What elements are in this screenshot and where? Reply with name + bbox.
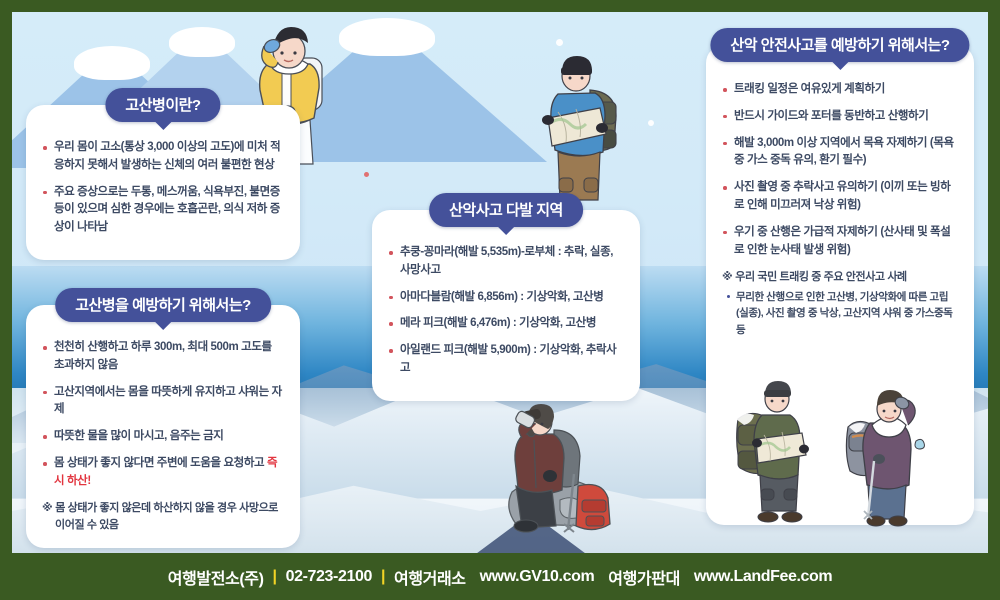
card-altitude-sickness-title: 고산병이란? [105,88,220,122]
altitude-sickness-list: 우리 몸이 고소(통상 3,000 이상의 고도)에 미처 적응하지 못해서 발… [42,139,282,237]
card-prevention: 고산병을 예방하기 위해서는? 천천히 산행하고 하루 300m, 최대 500… [26,305,300,548]
infographic-poster: 고산병이란? 우리 몸이 고소(통상 3,000 이상의 고도)에 미처 적응하… [0,0,1000,600]
list-item-with-alert: 몸 상태가 좋지 않다면 주변에 도움을 요청하고 즉시 하산! [42,455,282,491]
hotspots-list: 추쿵-꽁마라(해발 5,535m)-로부체 : 추락, 실종, 사망사고 아마다… [388,244,622,378]
card-accident-hotspots-title: 산악사고 다발 지역 [429,193,583,227]
prevention-list: 천천히 산행하고 하루 300m, 최대 500m 고도를 초과하지 않음 고산… [42,339,282,491]
list-item: 주요 증상으로는 두통, 메스꺼움, 식욕부진, 불면증 등이 있으며 심한 경… [42,184,282,237]
footer-brand-1: 여행거래소 [394,565,466,589]
list-item: 메라 피크(해발 6,476m) : 기상악화, 고산병 [388,315,622,333]
list-item: 고산지역에서는 몸을 따뜻하게 유지하고 샤워는 자제 [42,384,282,420]
list-item: 반드시 가이드와 포터를 동반하고 산행하기 [722,108,958,126]
snow-dot-icon [364,172,369,177]
safety-note-detail: 무리한 산행으로 인한 고산병, 기상악화에 따른 고립(실종), 사진 촬영 … [722,289,958,339]
footer-phone: 02-723-2100 [286,568,372,586]
hiker-purple-jacket-headache-illustration [838,381,948,527]
snow-dot-icon [648,120,654,126]
list-item: 아마다블람(해발 6,856m) : 기상악화, 고산병 [388,289,622,307]
footer-separator-1: | [273,568,277,586]
note-line-2: 이어질 수 있음 [42,517,282,534]
list-item: 아일랜드 피크(해발 5,900m) : 기상악화, 추락사고 [388,342,622,378]
footer-url-1[interactable]: www.GV10.com [480,568,595,586]
prevention-note: ※몸 상태가 좋지 않은데 하산하지 않을 경우 사망으로 이어질 수 있음 [42,500,282,534]
snow-dot-icon [556,39,563,46]
list-item: 트래킹 일정은 여유있게 계획하기 [722,81,958,99]
card-altitude-sickness: 고산병이란? 우리 몸이 고소(통상 3,000 이상의 고도)에 미처 적응하… [26,105,300,260]
card-mountain-safety-title: 산악 안전사고를 예방하기 위해서는? [710,28,969,62]
card-accident-hotspots: 산악사고 다발 지역 추쿵-꽁마라(해발 5,535m)-로부체 : 추락, 실… [372,210,640,401]
hiker-blue-jacket-reading-map-illustration [528,50,638,210]
footer-company: 여행발전소(주) [168,565,264,589]
list-item: 따뜻한 물을 많이 마시고, 음주는 금지 [42,428,282,446]
footer-brand-2: 여행가판대 [608,565,680,589]
list-item: 추쿵-꽁마라(해발 5,535m)-로부체 : 추락, 실종, 사망사고 [388,244,622,280]
note-marker: ※ [42,502,52,514]
note-line-1: 몸 상태가 좋지 않은데 하산하지 않을 경우 사망으로 [55,502,278,514]
footer-separator-2: | [381,568,385,586]
list-item: 우기 중 산행은 가급적 자제하기 (산사태 및 폭설로 인한 눈사태 발생 위… [722,224,958,260]
hiker-olive-jacket-reading-map-illustration [732,375,844,525]
safety-list: 트래킹 일정은 여유있게 계획하기 반드시 가이드와 포터를 동반하고 산행하기… [722,81,958,260]
footer-bar: 여행발전소(주) | 02-723-2100 | 여행거래소 www.GV10.… [0,553,1000,600]
hiker-seated-drinking-thermos-illustration [482,400,632,540]
list-item: 사진 촬영 중 추락사고 유의하기 (이끼 또는 빙하로 인해 미끄러져 낙상 … [722,179,958,215]
note-marker: ※ [722,271,732,283]
list-item: 해발 3,000m 이상 지역에서 목욕 자제하기 (목욕 중 가스 중독 유의… [722,135,958,171]
card-mountain-safety: 산악 안전사고를 예방하기 위해서는? 트래킹 일정은 여유있게 계획하기 반드… [706,45,974,525]
note-heading: 우리 국민 트래킹 중 주요 안전사고 사례 [735,271,906,283]
list-item-text: 몸 상태가 좋지 않다면 주변에 도움을 요청하고 [54,457,264,469]
safety-note: ※우리 국민 트래킹 중 주요 안전사고 사례 [722,269,958,286]
footer-url-2[interactable]: www.LandFee.com [694,568,832,586]
card-prevention-title: 고산병을 예방하기 위해서는? [55,288,271,322]
list-item: 우리 몸이 고소(통상 3,000 이상의 고도)에 미처 적응하지 못해서 발… [42,139,282,175]
list-item: 천천히 산행하고 하루 300m, 최대 500m 고도를 초과하지 않음 [42,339,282,375]
